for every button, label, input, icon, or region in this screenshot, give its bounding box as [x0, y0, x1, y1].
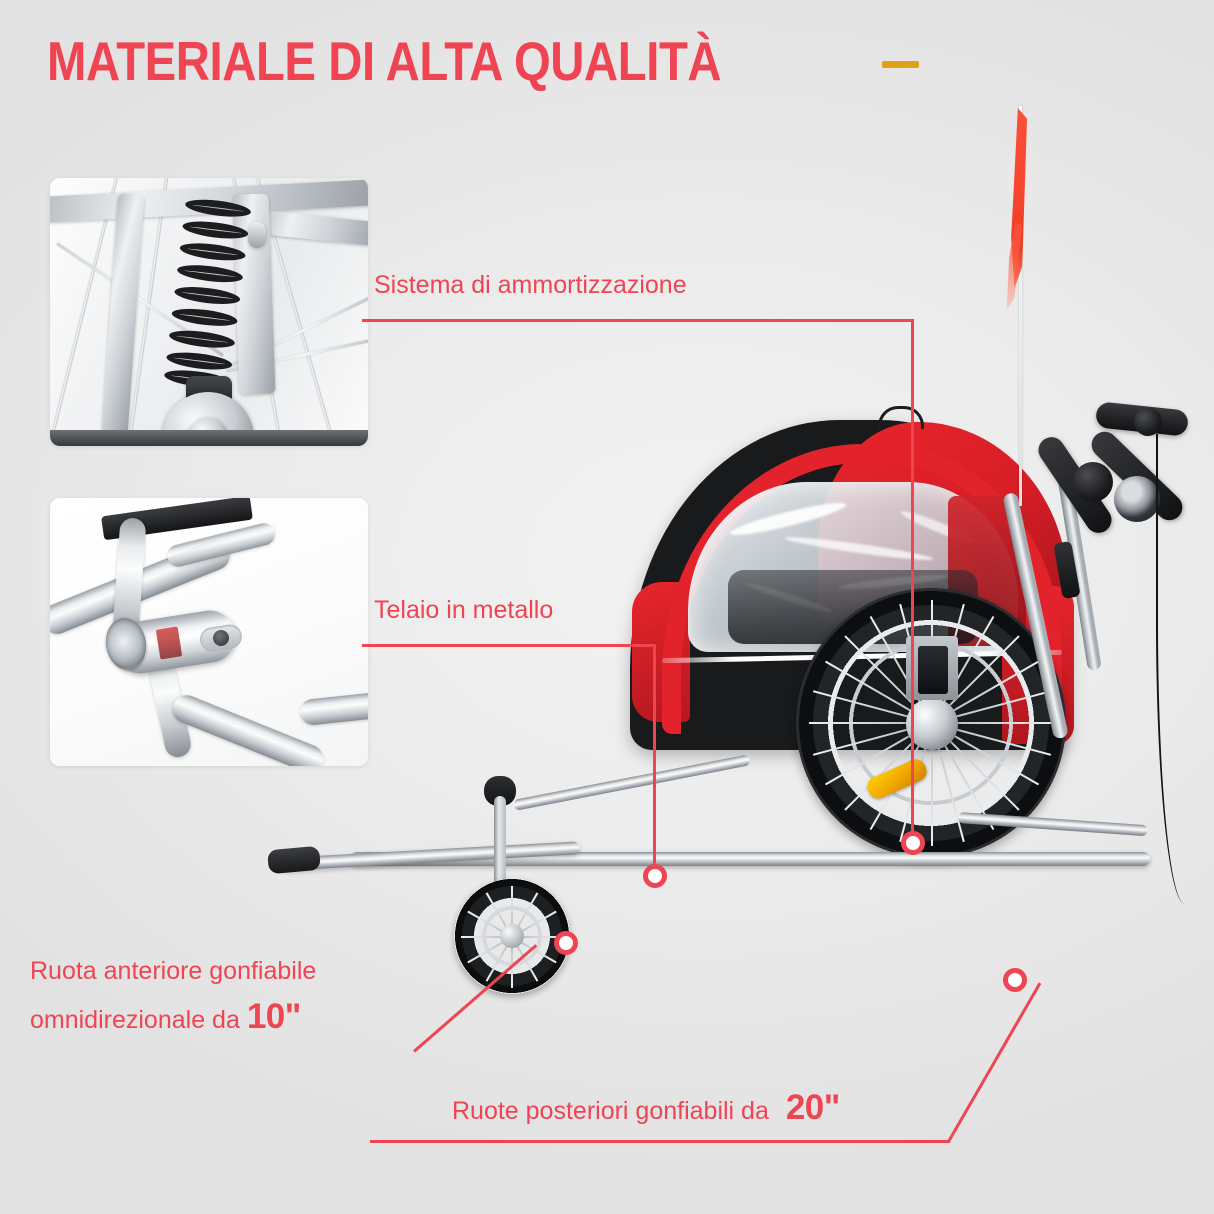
- callout-line-frame-horizontal: [362, 644, 656, 647]
- handle-end-cap: [1134, 408, 1162, 436]
- callout-dot-suspension: [901, 831, 925, 855]
- front-wheel-size: 10": [247, 997, 301, 1036]
- handle-pivot-ring: [1114, 476, 1160, 522]
- callout-line-suspension-vertical: [911, 319, 914, 839]
- front-wheel-hub: [500, 924, 524, 948]
- title-accent-dash: [882, 61, 919, 68]
- callout-label-suspension: Sistema di ammortizzazione: [374, 270, 687, 301]
- hitch-coupler: [267, 846, 321, 874]
- callout-label-front-wheel: Ruota anteriore gonfiabile omnidireziona…: [30, 948, 410, 1043]
- front-wheel-text-line2: omnidirezionale da: [30, 1006, 240, 1034]
- handle-pivot-left: [1073, 462, 1113, 502]
- front-wheel-text-line1: Ruota anteriore gonfiabile: [30, 957, 316, 985]
- callout-dot-front-wheel: [554, 931, 578, 955]
- callout-dot-frame: [643, 864, 667, 888]
- callout-label-rear-wheels: Ruote posteriori gonfiabili da 20": [452, 1092, 840, 1127]
- callout-label-frame: Telaio in metallo: [374, 595, 553, 626]
- callout-line-rear-wheels-horizontal: [370, 1140, 950, 1143]
- led-button: [213, 630, 229, 646]
- brake-cable: [1156, 434, 1204, 904]
- chassis-diagonal-bar: [513, 754, 751, 811]
- suspension-block: [918, 646, 948, 694]
- callout-line-frame-vertical: [653, 644, 656, 872]
- callout-line-suspension-horizontal: [362, 319, 914, 322]
- tow-arm: [280, 841, 580, 871]
- led-brand-label: [156, 626, 182, 659]
- canopy-hook: [878, 406, 924, 429]
- page-title: MATERIALE DI ALTA QUALITÀ: [47, 30, 721, 92]
- callout-dot-rear-wheels: [1003, 968, 1027, 992]
- rear-wheel-size: 20": [786, 1088, 840, 1127]
- rear-wheel-text: Ruote posteriori gonfiabili da: [452, 1097, 769, 1125]
- infographic-canvas: MATERIALE DI ALTA QUALITÀ: [0, 0, 1214, 1214]
